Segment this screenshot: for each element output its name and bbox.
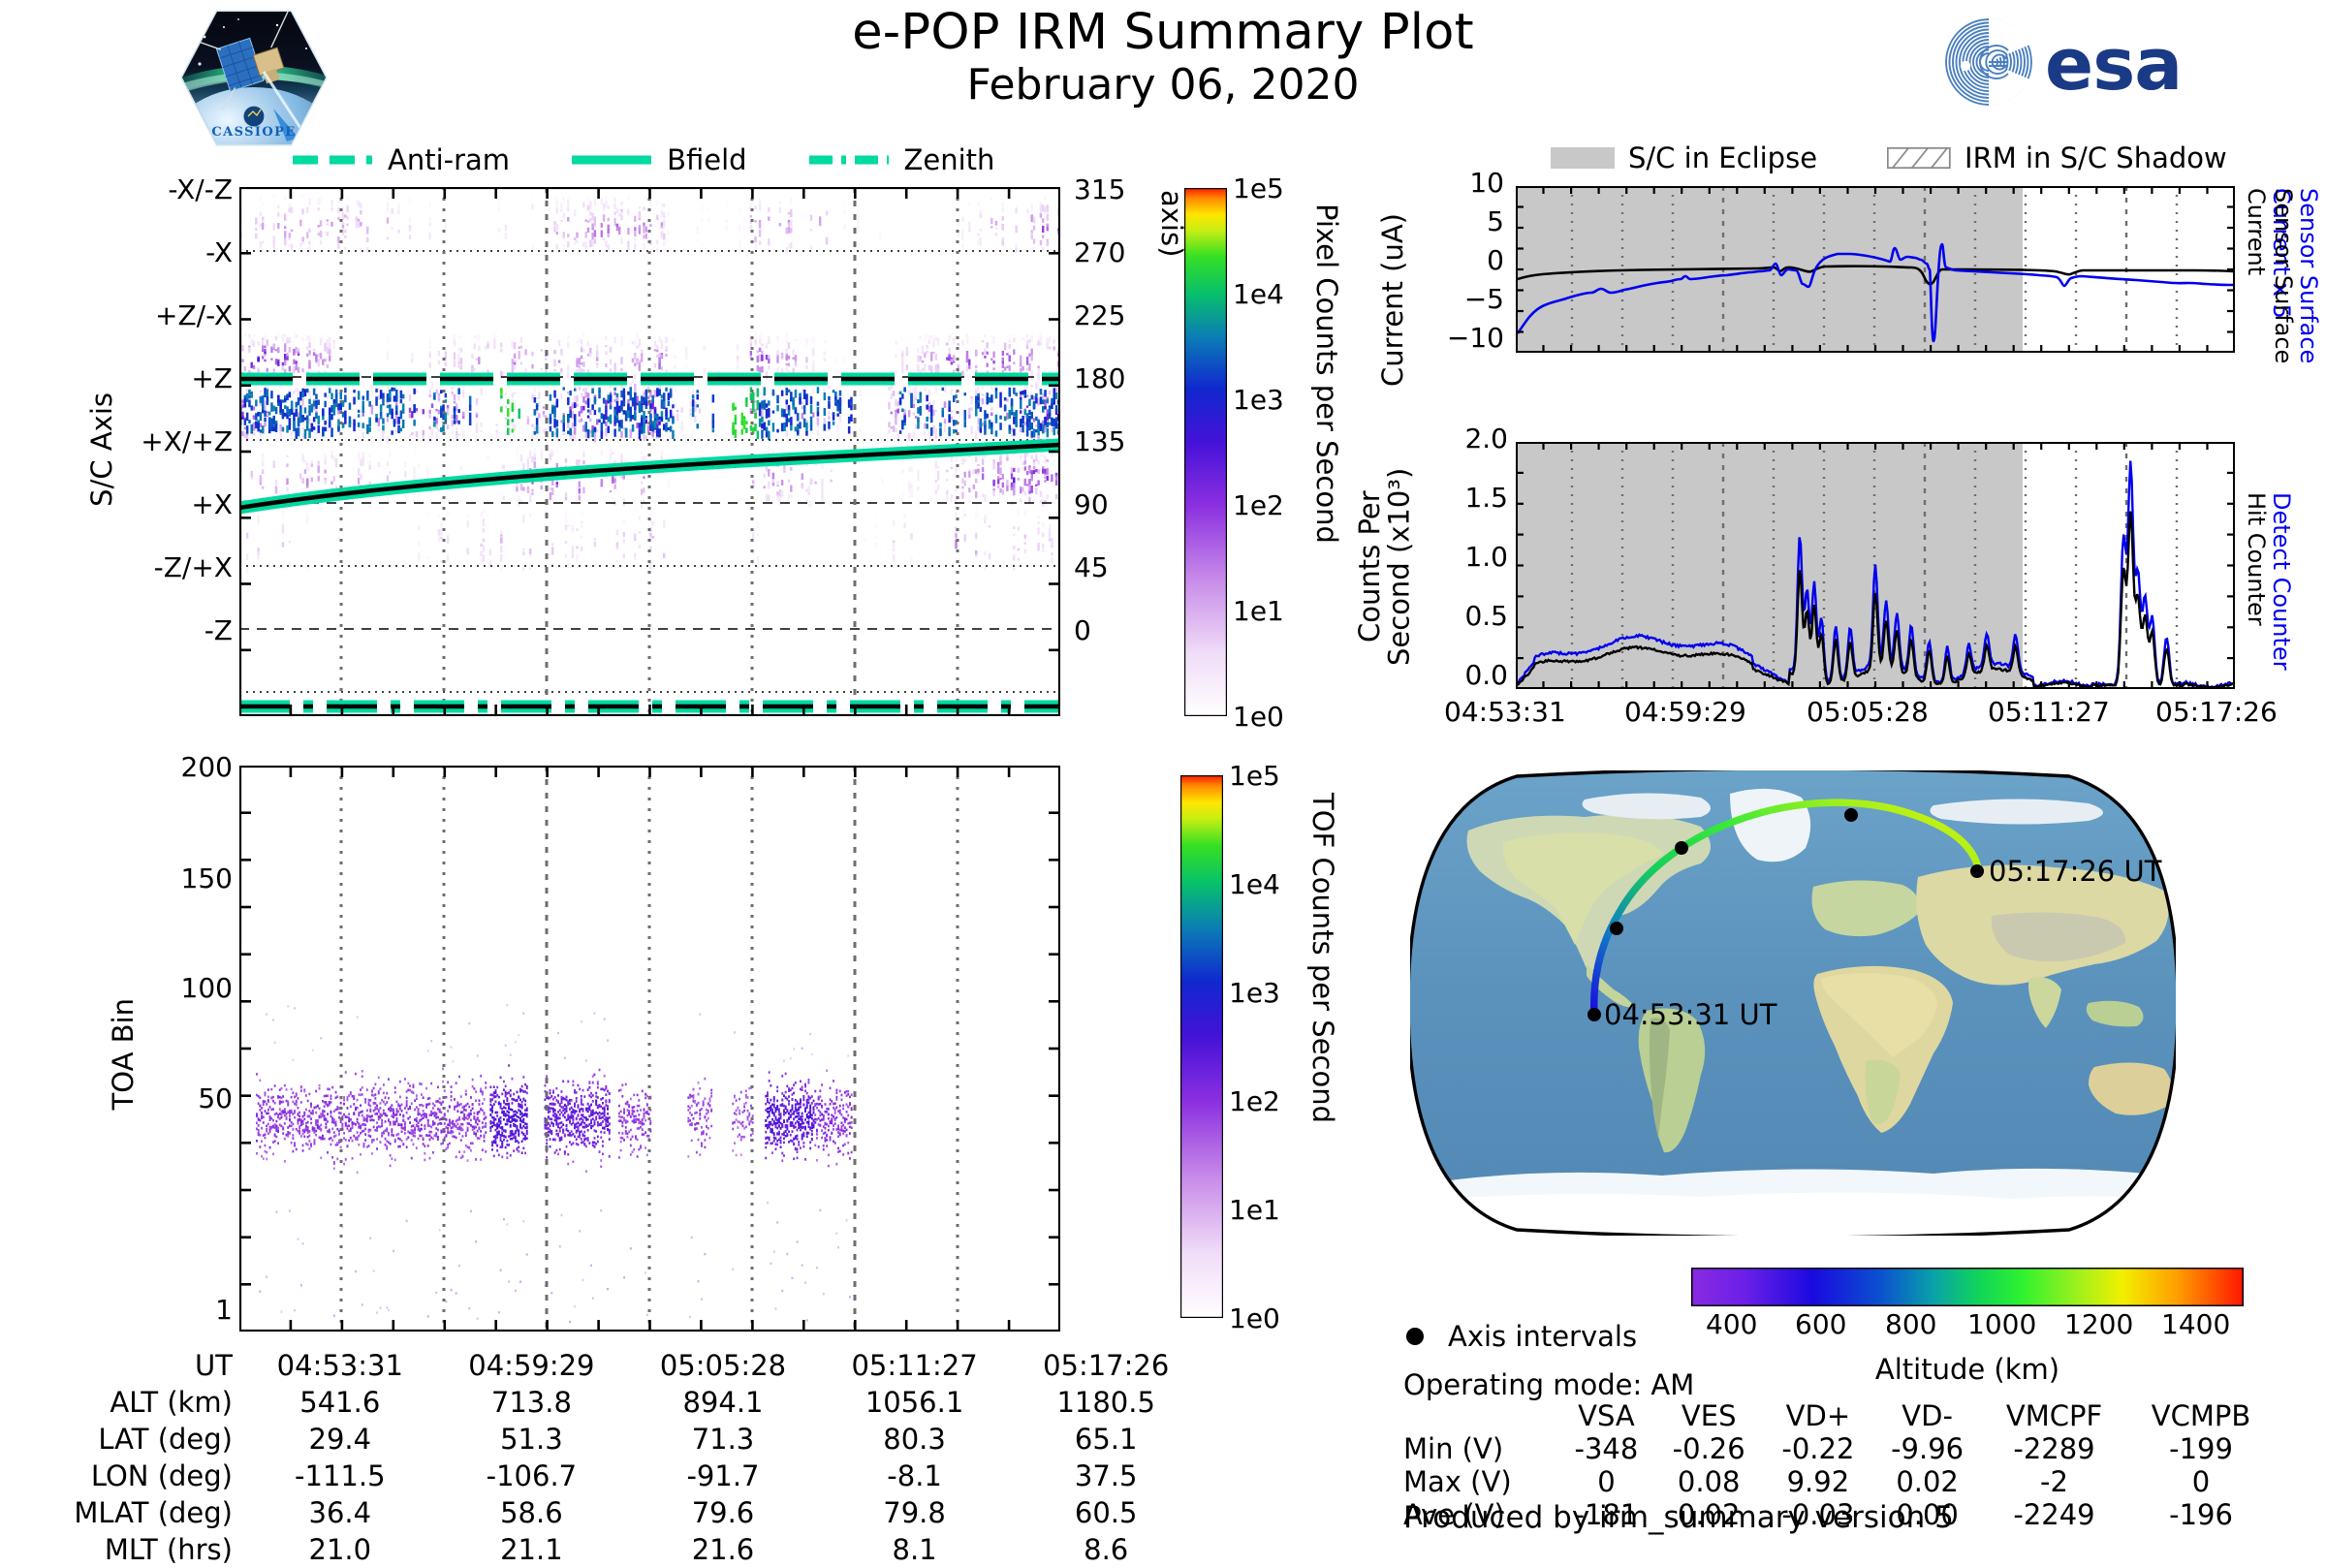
vt-row-label-max: Max (V) (1403, 1465, 1558, 1498)
vt-col-vsa: VSA (1558, 1399, 1654, 1432)
track-end-time-label: 05:17:26 UT (1989, 855, 2162, 888)
vt-col-vcmpb: VCMPB (2126, 1399, 2276, 1432)
right-xtick-3: 05:11:27 (1988, 696, 2110, 728)
right-panels-xtick-labels: 04:53:31 04:59:29 05:05:28 05:11:27 05:1… (1516, 696, 2235, 735)
cb2-tick-4: 1e1 (1229, 1194, 1280, 1226)
vt-min-vsa: -348 (1558, 1432, 1654, 1465)
cb1-tick-0: 1e5 (1233, 172, 1284, 204)
legend-label-zenith: Zenith (904, 143, 995, 176)
vt-col-vdp: VD+ (1764, 1399, 1873, 1432)
cell-alt-0: 541.6 (244, 1384, 436, 1421)
cell-mlat-0: 36.4 (244, 1494, 436, 1531)
cell-lat-1: 51.3 (436, 1421, 628, 1458)
angle-ytick-6: 45 (1074, 551, 1109, 583)
cell-ut-3: 05:11:27 (819, 1347, 1011, 1384)
voltage-table-header: VSA VES VD+ VD- VMCPF VCMPB (1403, 1399, 2276, 1432)
sc-axis-ytick-labels: -X/-Z -X +Z/-X +Z +X/+Z +X -Z/+X -Z (107, 189, 233, 703)
cell-alt-2: 894.1 (627, 1384, 819, 1421)
vt-col-vmcpf: VMCPF (1982, 1399, 2126, 1432)
vt-max-vmcpf: -2 (1982, 1465, 2126, 1498)
angle-ytick-5: 90 (1074, 488, 1109, 520)
vt-max-ves: 0.08 (1654, 1465, 1764, 1498)
vt-min-ves: -0.26 (1654, 1432, 1764, 1465)
cell-alt-1: 713.8 (436, 1384, 628, 1421)
table-row-ut: UT 04:53:31 04:59:29 05:05:28 05:11:27 0… (58, 1347, 1202, 1384)
current-plot[interactable] (1516, 186, 2235, 353)
sc-axis-y2tick-labels: 315 270 225 180 135 90 45 0 (1074, 189, 1151, 703)
right-xtick-1: 04:59:29 (1624, 696, 1746, 728)
toa-ytick-2: 100 (181, 972, 233, 1004)
legend-label-anti-ram: Anti-ram (388, 143, 510, 176)
cb1-tick-1: 1e4 (1233, 278, 1284, 310)
right-xtick-4: 05:17:26 (2155, 696, 2278, 728)
alt-tick-3: 1000 (1967, 1308, 2036, 1340)
sc-axis-ytick-1: -X (205, 236, 233, 268)
table-row-mlat: MLAT (deg) 36.4 58.6 79.6 79.8 60.5 (58, 1494, 1202, 1531)
map-marker-legend: Axis intervals (1403, 1320, 1637, 1353)
toa-ytick-labels: 200 150 100 50 1 (126, 766, 233, 1328)
vt-min-vcmpb: -199 (2126, 1432, 2276, 1465)
filled-circle-icon (1403, 1325, 1427, 1348)
cassiope-mission-patch: CASSIOPE (180, 8, 328, 148)
cell-lat-3: 80.3 (819, 1421, 1011, 1458)
cell-lat-2: 71.3 (627, 1421, 819, 1458)
table-row-lat: LAT (deg) 29.4 51.3 71.3 80.3 65.1 (58, 1421, 1202, 1458)
legend-item-sc-eclipse: S/C in Eclipse (1551, 141, 1817, 174)
cnt-ytick-0: 2.0 (1464, 423, 1508, 455)
track-marker-3 (1844, 808, 1858, 822)
tof-counts-colorbar-label: TOF Counts per Second (1306, 793, 1339, 1316)
alt-tick-2: 800 (1885, 1308, 1936, 1340)
angle-ytick-7: 0 (1074, 614, 1091, 646)
legend-item-zenith: Zenith (807, 143, 995, 176)
cell-alt-3: 1056.1 (819, 1384, 1011, 1421)
cell-mlt-2: 21.6 (627, 1531, 819, 1568)
vt-col-ves: VES (1654, 1399, 1764, 1432)
toa-bin-plot[interactable] (239, 766, 1060, 1332)
operating-mode-text: Operating mode: AM (1403, 1368, 1694, 1401)
sc-axis-ytick-3: +Z (191, 362, 233, 394)
cur-ytick-1: 5 (1487, 205, 1504, 237)
counts-ylabel: Counts Per Second (x10³) (1355, 455, 1414, 678)
voltage-row-min: Min (V) -348 -0.26 -0.22 -9.96 -2289 -19… (1403, 1432, 2276, 1465)
vt-ave-vmcpf: -2249 (1982, 1498, 2126, 1531)
cb2-tick-1: 1e4 (1229, 868, 1280, 900)
table-row-alt: ALT (km) 541.6 713.8 894.1 1056.1 1180.5 (58, 1384, 1202, 1421)
counts-right-label-black: Hit Counter (2243, 492, 2270, 686)
cell-mlat-2: 79.6 (627, 1494, 819, 1531)
cell-lon-4: 37.5 (1010, 1458, 1202, 1494)
track-marker-start (1587, 1008, 1601, 1021)
row-label-lon: LON (deg) (58, 1458, 244, 1494)
pixel-counts-colorbar (1184, 188, 1227, 716)
cell-ut-0: 04:53:31 (244, 1347, 436, 1384)
altitude-colorbar-ticks: 400 600 800 1000 1200 1400 (1691, 1308, 2244, 1347)
hatched-swatch-icon (1887, 145, 1951, 171)
angle-ytick-4: 135 (1074, 425, 1125, 457)
track-start-time-label: 04:53:31 UT (1604, 998, 1777, 1031)
ephemeris-table: UT 04:53:31 04:59:29 05:05:28 05:11:27 0… (58, 1347, 1202, 1568)
alt-tick-5: 1400 (2161, 1308, 2230, 1340)
sc-axis-ytick-6: -Z/+X (154, 551, 233, 583)
counts-right-label-blue: Detect Counter (2268, 492, 2295, 686)
cell-lon-1: -106.7 (436, 1458, 628, 1494)
svg-text:esa: esa (2045, 23, 2182, 107)
cnt-ytick-3: 0.5 (1464, 600, 1508, 632)
toa-ytick-1: 150 (181, 862, 233, 894)
tof-counts-colorbar (1180, 775, 1223, 1318)
legend-item-anti-ram: Anti-ram (291, 143, 510, 176)
vt-min-vdp: -0.22 (1764, 1432, 1873, 1465)
row-label-lat: LAT (deg) (58, 1421, 244, 1458)
right-xtick-2: 05:05:28 (1807, 696, 1929, 728)
cell-mlt-4: 8.6 (1010, 1531, 1202, 1568)
cell-mlat-4: 60.5 (1010, 1494, 1202, 1531)
cnt-ytick-1: 1.5 (1464, 482, 1508, 514)
legend-item-bfield: Bfield (570, 143, 746, 176)
cb2-tick-3: 1e2 (1229, 1085, 1280, 1117)
voltage-row-max: Max (V) 0 0.08 9.92 0.02 -2 0 (1403, 1465, 2276, 1498)
cb2-tick-0: 1e5 (1229, 760, 1280, 792)
toa-ytick-3: 50 (198, 1082, 233, 1114)
angle-ytick-1: 270 (1074, 236, 1125, 268)
legend-label-sc-eclipse: S/C in Eclipse (1628, 141, 1817, 174)
cur-ytick-0: 10 (1469, 167, 1504, 199)
cell-lon-0: -111.5 (244, 1458, 436, 1494)
cb2-tick-5: 1e0 (1229, 1302, 1280, 1334)
cb1-tick-5: 1e0 (1233, 701, 1284, 733)
cell-lon-2: -91.7 (627, 1458, 819, 1494)
right-xtick-0: 04:53:31 (1444, 696, 1566, 728)
row-label-ut: UT (58, 1347, 244, 1384)
cur-ytick-4: −10 (1447, 322, 1504, 354)
eclipse-legend: S/C in Eclipse IRM in S/C Shadow (1551, 141, 2227, 174)
cb2-tick-2: 1e3 (1229, 977, 1280, 1009)
alt-tick-1: 600 (1795, 1308, 1846, 1340)
map-marker-legend-label: Axis intervals (1448, 1320, 1637, 1353)
cell-mlt-3: 8.1 (819, 1531, 1011, 1568)
cnt-ytick-4: 0.0 (1464, 659, 1508, 691)
cell-ut-1: 04:59:29 (436, 1347, 628, 1384)
cell-alt-4: 1180.5 (1010, 1384, 1202, 1421)
produced-by-footer: Produced by irm_summary version 5 (1403, 1500, 1954, 1535)
toa-ytick-4: 1 (215, 1294, 233, 1326)
pixel-counts-colorbar-label: Pixel Counts per Second (1310, 204, 1343, 707)
cell-lat-0: 29.4 (244, 1421, 436, 1458)
angle-ytick-3: 180 (1074, 362, 1125, 394)
angle-ytick-0: 315 (1074, 173, 1125, 205)
table-row-lon: LON (deg) -111.5 -106.7 -91.7 -8.1 37.5 (58, 1458, 1202, 1494)
cell-mlat-3: 79.8 (819, 1494, 1011, 1531)
vt-min-vdm: -9.96 (1872, 1432, 1982, 1465)
vt-ave-vcmpb: -196 (2126, 1498, 2276, 1531)
toa-ytick-0: 200 (181, 751, 233, 783)
cur-ytick-3: −5 (1464, 283, 1504, 315)
gray-swatch-icon (1551, 145, 1615, 171)
cell-mlat-1: 58.6 (436, 1494, 628, 1531)
esa-logo: esa (1938, 12, 2229, 112)
sc-axis-ytick-4: +X/+Z (141, 425, 233, 457)
vt-max-vdm: 0.02 (1872, 1465, 1982, 1498)
cell-ut-2: 05:05:28 (627, 1347, 819, 1384)
alt-tick-4: 1200 (2064, 1308, 2133, 1340)
cell-ut-4: 05:17:26 (1010, 1347, 1202, 1384)
cell-lon-3: -8.1 (819, 1458, 1011, 1494)
legend-label-bfield: Bfield (667, 143, 746, 176)
solid-line-icon (570, 152, 653, 168)
counts-ytick-labels: 2.0 1.5 1.0 0.5 0.0 (1432, 438, 1508, 690)
current-right-label-black: Sensor Surface Current (2243, 188, 2297, 450)
sc-axis-plot[interactable] (239, 187, 1060, 716)
table-row-mlt: MLT (hrs) 21.0 21.1 21.6 8.1 8.6 (58, 1531, 1202, 1568)
sc-axis-ytick-2: +Z/-X (155, 299, 233, 331)
cb1-tick-2: 1e3 (1233, 384, 1284, 416)
alt-tick-0: 400 (1706, 1308, 1757, 1340)
sc-axis-ytick-5: +X (191, 488, 233, 520)
legend-item-irm-shadow: IRM in S/C Shadow (1887, 141, 2227, 174)
dashed-line-icon (291, 152, 374, 168)
axis-overlay-legend: Anti-ram Bfield Zenith (291, 143, 994, 176)
sc-axis-ytick-7: -Z (204, 614, 233, 646)
vt-row-label-min: Min (V) (1403, 1432, 1558, 1465)
cnt-ytick-2: 1.0 (1464, 541, 1508, 573)
track-marker-2 (1675, 841, 1688, 855)
row-label-mlat: MLAT (deg) (58, 1494, 244, 1531)
track-marker-1 (1610, 922, 1623, 935)
vt-max-vsa: 0 (1558, 1465, 1654, 1498)
svg-text:CASSIOPE: CASSIOPE (211, 125, 296, 140)
current-ylabel: Current (uA) (1376, 213, 1409, 387)
cb1-tick-4: 1e1 (1233, 595, 1284, 627)
legend-label-irm-shadow: IRM in S/C Shadow (1965, 141, 2227, 174)
vt-min-vmcpf: -2289 (1982, 1432, 2126, 1465)
counts-plot[interactable] (1516, 442, 2235, 689)
altitude-colorbar-label: Altitude (km) (1691, 1353, 2244, 1386)
dashdot-line-icon (807, 152, 891, 168)
cell-lat-4: 65.1 (1010, 1421, 1202, 1458)
vt-max-vcmpb: 0 (2126, 1465, 2276, 1498)
cell-mlt-1: 21.1 (436, 1531, 628, 1568)
angle-ytick-2: 225 (1074, 299, 1125, 331)
cb1-tick-3: 1e2 (1233, 489, 1284, 521)
current-ytick-labels: 10 5 0 −5 −10 (1415, 182, 1504, 434)
vt-col-vdm: VD- (1872, 1399, 1982, 1432)
row-label-mlt: MLT (hrs) (58, 1531, 244, 1568)
orbit-ground-track-map[interactable]: 05:17:26 UT 04:53:31 UT (1410, 770, 2176, 1236)
sc-axis-ytick-0: -X/-Z (168, 173, 233, 205)
vt-max-vdp: 9.92 (1764, 1465, 1873, 1498)
altitude-colorbar (1691, 1268, 2244, 1306)
cell-mlt-0: 21.0 (244, 1531, 436, 1568)
track-marker-end (1970, 864, 1984, 878)
row-label-alt: ALT (km) (58, 1384, 244, 1421)
cur-ytick-2: 0 (1487, 244, 1504, 276)
